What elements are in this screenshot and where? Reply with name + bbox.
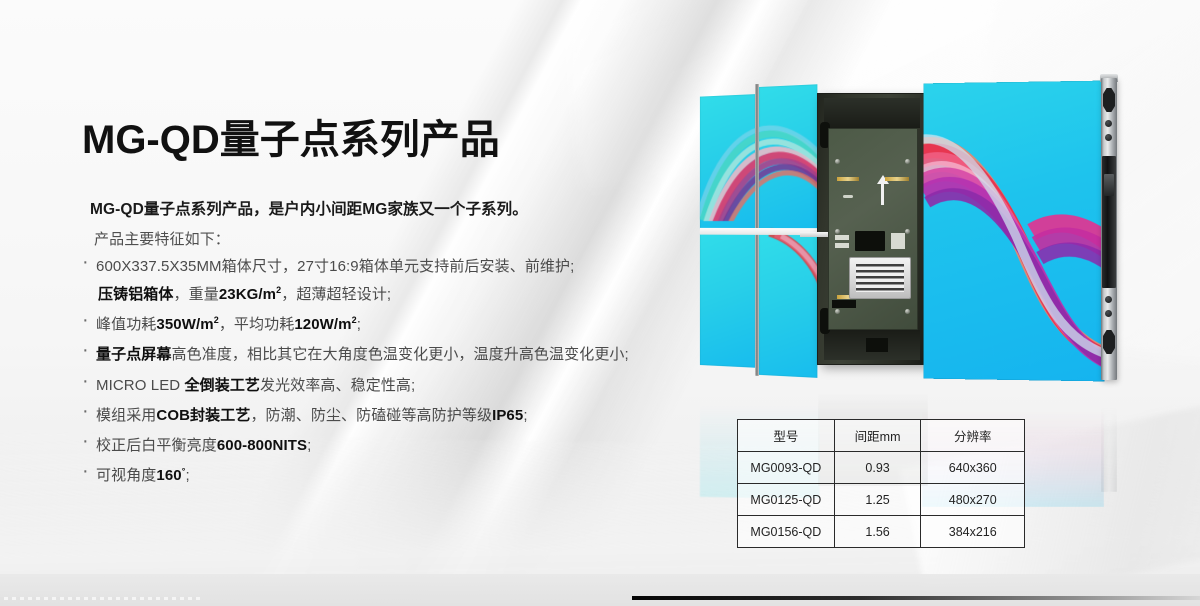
feature-text: 校正后白平衡亮度 [96, 437, 217, 454]
page-title: MG-QD量子点系列产品 [82, 118, 722, 163]
cell-resolution: 384x216 [921, 516, 1025, 548]
cell-resolution: 480x270 [921, 484, 1025, 516]
feature-item-dimensions: 600X337.5X35MM箱体尺寸，27寸16:9箱体单元支持前后安装、前维护… [82, 257, 722, 304]
product-image-led-video-wall [660, 60, 1200, 440]
feature-text: 发光效率高、稳定性高; [260, 377, 415, 394]
rail-hole [1105, 134, 1112, 141]
table-row: MG0156-QD 1.56 384x216 [738, 516, 1025, 548]
feature-bold: 160° [156, 467, 185, 484]
feature-bold: 全倒装工艺 [185, 377, 261, 394]
feature-bold: 120W/m2 [294, 316, 356, 333]
feature-list: 600X337.5X35MM箱体尺寸，27寸16:9箱体单元支持前后安装、前维护… [82, 257, 722, 486]
feature-bold-text: 350W/m [156, 316, 213, 333]
rail-hole [1105, 120, 1112, 127]
feature-bold-text: 23KG/m [219, 286, 276, 303]
ribbon-artwork-right [923, 110, 1104, 374]
feature-item-viewing-angle: 可视角度160°; [82, 466, 722, 485]
feature-item-brightness: 校正后白平衡亮度600-800NITS; [82, 436, 722, 455]
cabinet-cell-4 [759, 234, 818, 378]
copy-block: MG-QD量子点系列产品 MG-QD量子点系列产品，是户内小间距MG家族又一个子… [82, 118, 722, 496]
feature-text: MICRO LED [96, 377, 185, 394]
feature-text: 峰值功耗 [96, 316, 156, 333]
feature-bold-text: 120W/m [294, 316, 351, 333]
cell-resolution: 640x360 [921, 452, 1025, 484]
table-row: MG0093-QD 0.93 640x360 [738, 452, 1025, 484]
table-header-resolution: 分辨率 [921, 420, 1025, 452]
feature-item-power: 峰值功耗350W/m2，平均功耗120W/m2; [82, 315, 722, 334]
banner-stage: MG-QD量子点系列产品 MG-QD量子点系列产品，是户内小间距MG家族又一个子… [0, 0, 1200, 606]
feature-bold: COB封装工艺 [156, 407, 250, 424]
bottom-dotted-edge [0, 597, 200, 600]
right-cabinet-screen [923, 81, 1104, 382]
feature-bold: 23KG/m2 [219, 286, 281, 303]
rail-port [1104, 174, 1114, 196]
table-header-pitch: 间距mm [834, 420, 921, 452]
cell-pitch: 0.93 [834, 452, 921, 484]
feature-item-micro-led: MICRO LED 全倒装工艺发光效率高、稳定性高; [82, 376, 722, 395]
cell-model: MG0156-QD [738, 516, 835, 548]
feature-text: ; [523, 407, 527, 424]
feature-text: ; [185, 467, 189, 484]
floor-edge [0, 574, 1200, 606]
rail-corner-bracket-bottom [1103, 330, 1115, 354]
module-connector [849, 257, 911, 299]
cabinet-side-rail [1101, 78, 1117, 380]
feature-bold: IP65 [492, 407, 523, 424]
rail-corner-bracket-top [1103, 88, 1115, 112]
feature-item-quantum-dot: 量子点屏幕高色准度，相比其它在大角度色温变化更小，温度升高色温变化更小; [82, 345, 722, 364]
cell-model: MG0093-QD [738, 452, 835, 484]
cell-model: MG0125-QD [738, 484, 835, 516]
reflection-side-rail [1101, 382, 1117, 492]
feature-text: 可视角度 [96, 467, 156, 484]
cell-pitch: 1.56 [834, 516, 921, 548]
lead-paragraph: MG-QD量子点系列产品，是户内小间距MG家族又一个子系列。 [90, 197, 722, 219]
feature-text: 模组采用 [96, 407, 156, 424]
right-cabinet [923, 81, 1104, 382]
spec-table: 型号 间距mm 分辨率 MG0093-QD 0.93 640x360 MG012… [737, 419, 1025, 548]
table-header-model: 型号 [738, 420, 835, 452]
features-subtitle: 产品主要特征如下： [94, 228, 722, 249]
feature-bold-text: 160 [156, 467, 181, 484]
feature-bold: 量子点屏幕 [96, 346, 172, 363]
feature-bold: 压铸铝箱体 [98, 286, 174, 303]
table-row: MG0125-QD 1.25 480x270 [738, 484, 1025, 516]
feature-text: ，重量 [174, 286, 219, 303]
feature-continuation: 压铸铝箱体，重量23KG/m2，超薄超轻设计; [96, 285, 722, 304]
feature-text: ，超薄超轻设计; [281, 286, 391, 303]
table-header-row: 型号 间距mm 分辨率 [738, 420, 1025, 452]
feature-text: 600X337.5X35MM箱体尺寸，27寸16:9箱体单元支持前后安装、前维护… [96, 258, 574, 275]
feature-bold: 600-800NITS [217, 437, 307, 454]
feature-text: ; [357, 316, 361, 333]
feature-text: 高色准度，相比其它在大角度色温变化更小，温度升高色温变化更小; [172, 346, 629, 363]
feature-text: ; [307, 437, 311, 454]
cell-pitch: 1.25 [834, 484, 921, 516]
feature-bold: 350W/m2 [156, 316, 218, 333]
feature-text: ，防潮、防尘、防磕碰等高防护等级 [250, 407, 492, 424]
feature-text: ，平均功耗 [219, 316, 295, 333]
cabinet-cell-2 [759, 84, 818, 229]
feature-item-cob: 模组采用COB封装工艺，防潮、防尘、防磕碰等高防护等级IP65; [82, 406, 722, 425]
rail-hole [1105, 310, 1112, 317]
exposed-cabinet-module [818, 94, 928, 364]
rail-hole [1105, 296, 1112, 303]
module-tie-bar [800, 232, 828, 237]
